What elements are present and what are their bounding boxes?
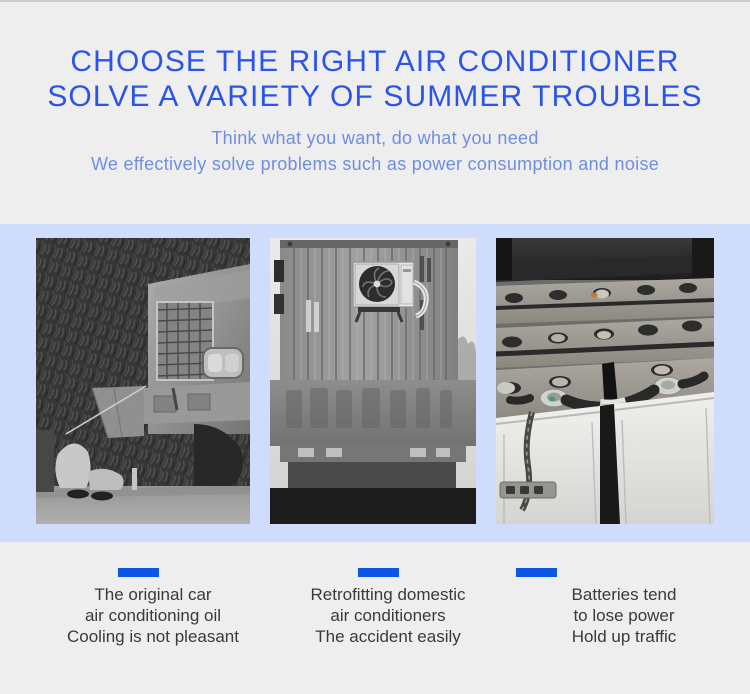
caption-text: Batteries tend to lose power Hold up tra… (498, 584, 750, 647)
caption-line: to lose power (498, 605, 750, 626)
caption-batteries-lose-power: Batteries tend to lose power Hold up tra… (498, 560, 750, 670)
subtitle-line-1: Think what you want, do what you need (0, 125, 750, 151)
caption-line: Hold up traffic (498, 626, 750, 647)
photo-gallery (36, 238, 714, 524)
batteries-terminals-illustration (496, 238, 714, 524)
caption-line: The accident easily (278, 626, 498, 647)
accent-bar-icon (118, 568, 159, 577)
caption-line: Batteries tend (498, 584, 750, 605)
caption-line: Cooling is not pleasant (28, 626, 278, 647)
batteries-terminals-photo (496, 238, 714, 524)
subtitle-block: Think what you want, do what you need We… (0, 125, 750, 177)
promo-banner-page: CHOOSE THE RIGHT AIR CONDITIONER SOLVE A… (0, 0, 750, 694)
caption-text: The original car air conditioning oil Co… (10, 584, 278, 647)
subtitle-line-2: We effectively solve problems such as po… (0, 151, 750, 177)
caption-row: The original car air conditioning oil Co… (0, 560, 750, 670)
caption-text: Retrofitting domestic air conditioners T… (278, 584, 498, 647)
accent-bar-icon (358, 568, 399, 577)
header-section: CHOOSE THE RIGHT AIR CONDITIONER SOLVE A… (0, 44, 750, 177)
container-air-conditioner-photo (270, 238, 476, 524)
page-title-line-2: SOLVE A VARIETY OF SUMMER TROUBLES (0, 79, 750, 114)
truck-front-grille-photo (36, 238, 250, 524)
caption-line: air conditioners (278, 605, 498, 626)
caption-line: Retrofitting domestic (278, 584, 498, 605)
page-title-line-1: CHOOSE THE RIGHT AIR CONDITIONER (0, 44, 750, 79)
truck-front-grille-illustration (36, 238, 250, 524)
caption-retrofitting-domestic-ac: Retrofitting domestic air conditioners T… (278, 560, 498, 670)
container-air-conditioner-illustration (270, 238, 476, 524)
caption-original-car-ac-oil: The original car air conditioning oil Co… (0, 560, 278, 670)
top-divider (0, 0, 750, 2)
caption-line: The original car (28, 584, 278, 605)
caption-line: air conditioning oil (28, 605, 278, 626)
accent-bar-icon (516, 568, 557, 577)
photo-band (0, 224, 750, 542)
